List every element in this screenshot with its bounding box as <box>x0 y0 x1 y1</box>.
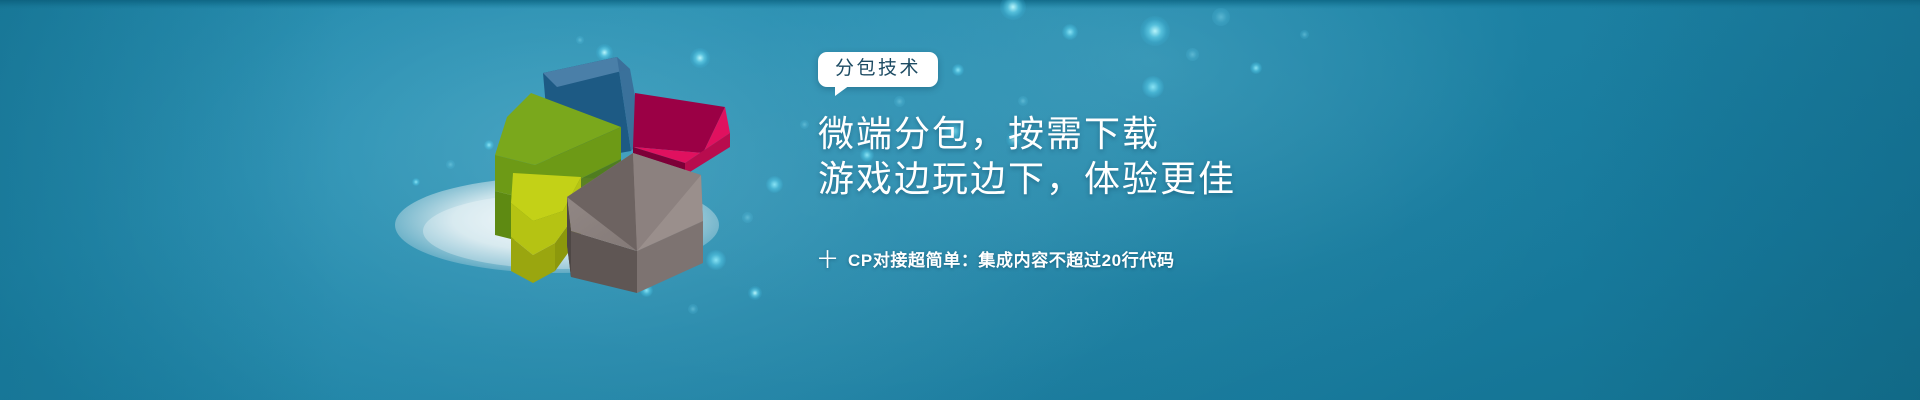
feature-badge-label: 分包技术 <box>835 58 921 79</box>
caption-label: CP对接超简单：集成内容不超过20行代码 <box>848 252 1175 269</box>
pie-chart-3d-illustration <box>385 25 730 290</box>
headline-line-2: 游戏边玩边下，体验更佳 <box>818 156 1538 201</box>
promo-banner: 分包技术 微端分包，按需下载 游戏边玩边下，体验更佳 十 CP对接超简单：集成内… <box>0 0 1920 400</box>
caption-row: 十 CP对接超简单：集成内容不超过20行代码 <box>818 251 1538 270</box>
banner-copy-block: 分包技术 微端分包，按需下载 游戏边玩边下，体验更佳 十 CP对接超简单：集成内… <box>818 52 1538 270</box>
feature-badge: 分包技术 <box>818 52 938 87</box>
headline-line-1: 微端分包，按需下载 <box>818 111 1538 156</box>
plus-icon: 十 <box>818 251 837 270</box>
headline-block: 微端分包，按需下载 游戏边玩边下，体验更佳 <box>818 111 1538 201</box>
